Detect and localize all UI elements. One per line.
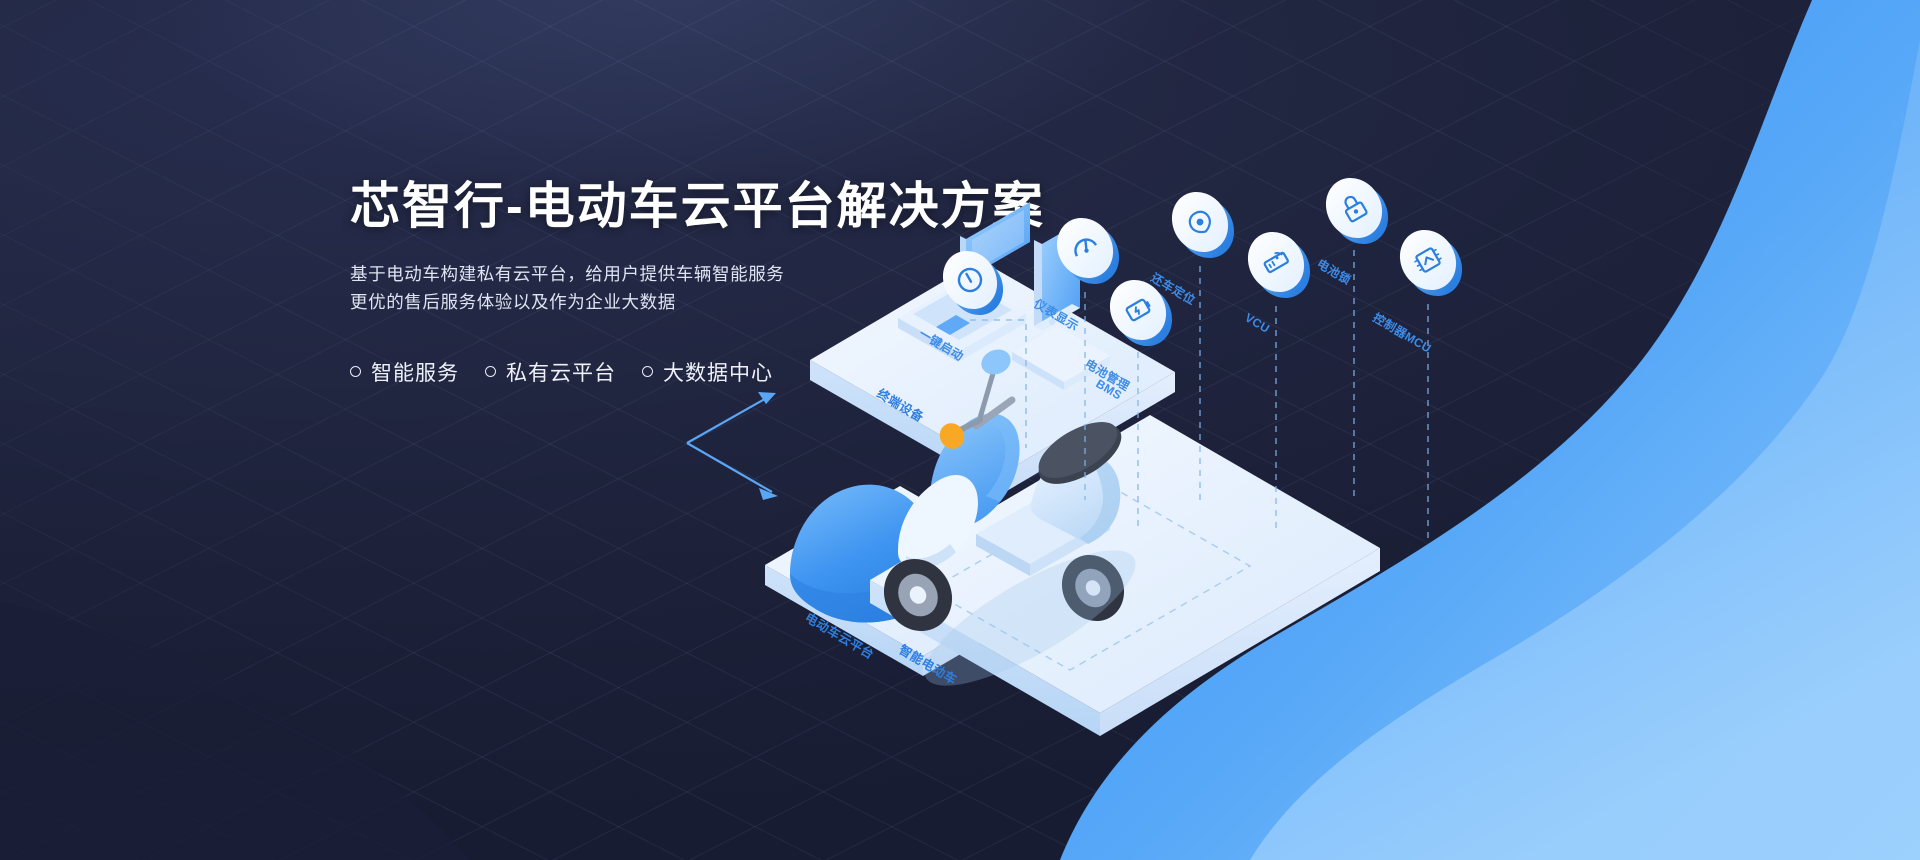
feature-node-label: 控制器MCU	[1370, 310, 1434, 356]
feature-node-mcu[interactable]: 控制器MCU	[1370, 220, 1472, 356]
circle-bullet-icon	[642, 366, 653, 377]
feature-node-label: 电池锁	[1314, 256, 1353, 288]
feature-item-private-cloud[interactable]: 私有云平台	[485, 357, 616, 387]
feature-node-label: VCU	[1242, 311, 1272, 336]
feature-node-vcu[interactable]: VCU	[1237, 222, 1321, 336]
feature-label: 私有云平台	[506, 357, 616, 387]
isometric-illustration: 终端设备 电动车云平台	[780, 200, 1920, 820]
feature-label: 智能服务	[371, 357, 459, 387]
feature-item-smart-service[interactable]: 智能服务	[350, 357, 459, 387]
circle-bullet-icon	[350, 366, 361, 377]
feature-label: 大数据中心	[663, 357, 773, 387]
circle-bullet-icon	[485, 366, 496, 377]
hero-subtitle-line-1: 基于电动车构建私有云平台，给用户提供车辆智能服务	[350, 264, 784, 284]
feature-item-big-data-center[interactable]: 大数据中心	[642, 357, 773, 387]
hero-subtitle-line-2: 更优的售后服务体验以及作为企业大数据	[350, 292, 676, 312]
hero-banner: 芯智行-电动车云平台解决方案 基于电动车构建私有云平台，给用户提供车辆智能服务 …	[0, 0, 1920, 860]
feature-node-return-location[interactable]: 还车定位	[1148, 182, 1245, 308]
